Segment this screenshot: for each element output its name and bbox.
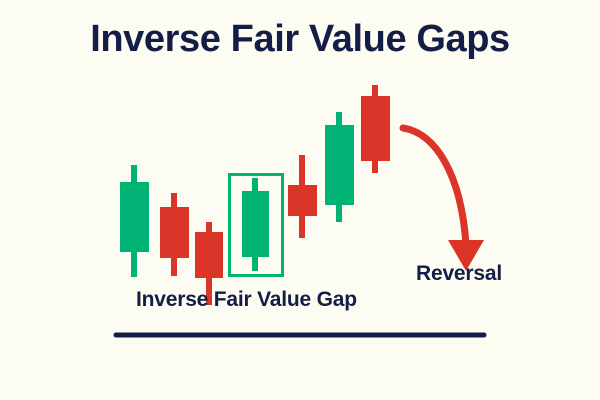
candle-body bbox=[242, 191, 269, 257]
infographic-canvas: Inverse Fair Value Gaps bbox=[0, 0, 600, 400]
inverse-fair-value-gap-caption: Inverse Fair Value Gap bbox=[136, 288, 357, 312]
candle-body bbox=[288, 185, 317, 216]
candle-1 bbox=[160, 193, 189, 276]
reversal-arrow-shaft bbox=[403, 128, 466, 244]
candle-body bbox=[195, 232, 223, 278]
candle-6 bbox=[361, 85, 390, 173]
candle-body bbox=[325, 125, 354, 205]
candle-5 bbox=[325, 112, 354, 222]
candlestick-chart bbox=[0, 0, 600, 400]
candle-3 bbox=[242, 178, 269, 271]
candle-body bbox=[361, 96, 390, 161]
candle-4 bbox=[288, 155, 317, 238]
candle-body bbox=[160, 207, 189, 258]
candle-0 bbox=[120, 165, 149, 277]
reversal-arrow bbox=[403, 128, 484, 271]
reversal-label: Reversal bbox=[416, 262, 502, 286]
candle-body bbox=[120, 182, 149, 252]
